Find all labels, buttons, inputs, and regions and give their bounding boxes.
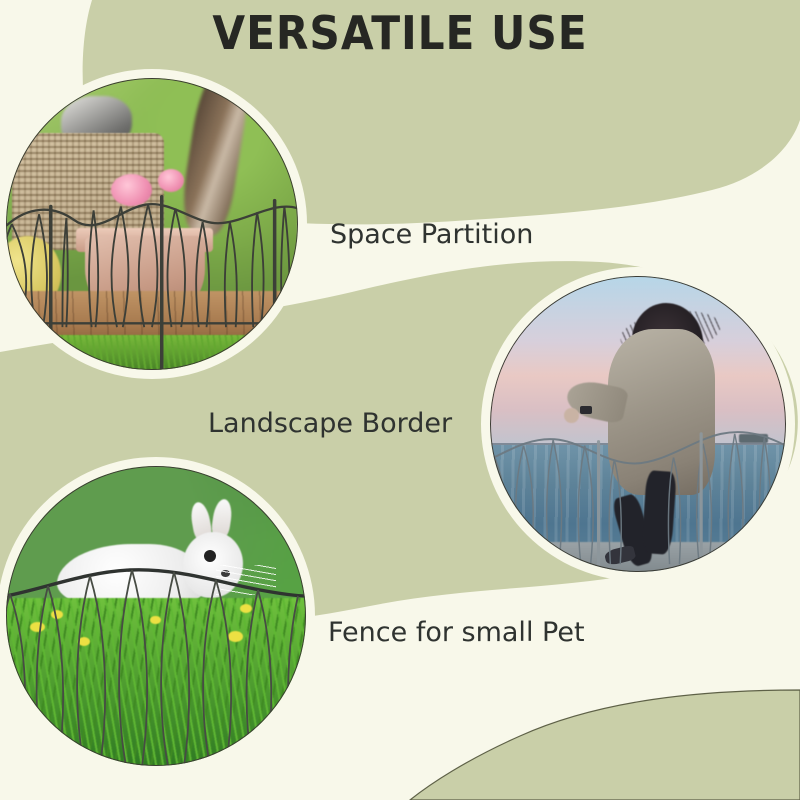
caption-fence-for-small-pet: Fence for small Pet (328, 617, 585, 648)
caption-space-partition: Space Partition (330, 219, 533, 250)
rabbit-scene (6, 466, 306, 766)
garden-border-fence (6, 78, 298, 370)
caption-landscape-border: Landscape Border (208, 408, 452, 439)
page-title: VERSATILE USE (32, 6, 768, 60)
photo-landscape-border[interactable] (490, 276, 786, 572)
photo-fence-for-small-pet[interactable] (6, 466, 306, 766)
garden-scene (6, 78, 298, 370)
photo-space-partition[interactable] (6, 78, 298, 370)
promenade-border-fence (490, 276, 786, 572)
pet-border-fence (6, 466, 306, 766)
seaside-scene (490, 276, 786, 572)
bottom-green-blob (410, 690, 800, 800)
versatile-use-infographic: VERSATILE USE (0, 0, 800, 800)
